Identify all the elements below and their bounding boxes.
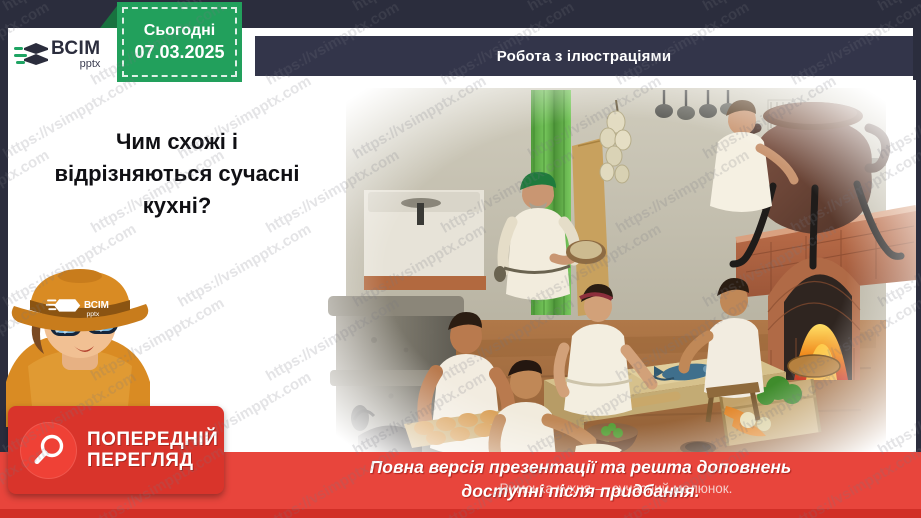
svg-text:pptx: pptx [86,311,99,318]
promo-text: Повна версія презентації та решта доповн… [240,456,921,503]
magnifier-icon [20,422,77,479]
logo-suffix-text: pptx [51,59,100,70]
roman-kitchen-illustration [316,80,916,480]
today-date: 07.03.2025 [134,42,224,63]
today-label: Сьогодні [144,22,215,40]
brand-logo[interactable]: ВСІМ pptx [8,30,120,78]
banner-bottom-stripe [0,509,921,518]
detective-mascot: ВСІМ pptx [0,262,160,427]
slide-root: Чим схожі і відрізняються сучасні кухні?… [0,0,921,518]
promo-line-2: доступні після придбання. [240,480,921,504]
illustration-image [316,80,916,480]
promo-line-1: Повна версія презентації та решта доповн… [240,456,921,480]
preview-badge[interactable]: ПОПЕРЕДНІЙ ПЕРЕГЛЯД [8,406,224,494]
svg-text:ВСІМ: ВСІМ [84,300,109,311]
preview-line-2: ПЕРЕГЛЯД [87,450,194,471]
logo-brand-text: ВСІМ [51,39,100,58]
today-date-badge: Сьогодні 07.03.2025 [117,2,242,82]
preview-line-1: ПОПЕРЕДНІЙ [87,429,218,450]
header-title: Робота з ілюстраціями [497,48,672,65]
header-bar: Робота з ілюстраціями [255,36,913,76]
graduation-cap-icon [14,39,48,69]
page-title: Чим схожі і відрізняються сучасні кухні? [46,126,308,222]
